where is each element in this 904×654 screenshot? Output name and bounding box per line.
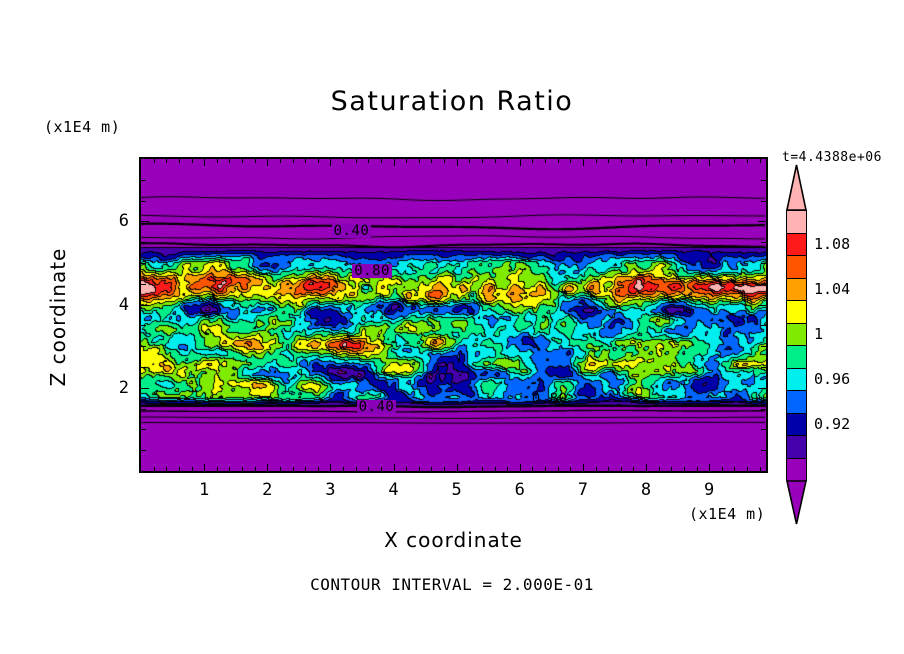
x-tick-minor [684, 467, 685, 471]
x-tick-label: 1 [189, 480, 219, 500]
x-tick-minor [608, 467, 609, 471]
y-tick-minor [761, 284, 766, 285]
x-tick-minor [633, 467, 634, 471]
x-tick-minor [229, 467, 230, 471]
x-tick-label: 7 [568, 480, 598, 500]
x-tick-minor [507, 467, 508, 471]
y-tick-minor [141, 367, 146, 368]
colorbar-tick-label: 0.92 [814, 415, 850, 433]
x-tick-minor [671, 467, 672, 471]
y-tick-label: 6 [103, 211, 129, 231]
contour-label: 0.40 [332, 224, 372, 238]
x-tick-minor [431, 467, 432, 471]
x-tick-minor [722, 159, 723, 163]
x-tick-major [583, 464, 584, 471]
y-tick-major [758, 305, 766, 306]
x-tick-minor [217, 159, 218, 163]
x-tick-minor [734, 467, 735, 471]
x-tick-label: 2 [252, 480, 282, 500]
x-tick-major [646, 159, 647, 166]
time-annotation: t=4.4388e+06 [782, 150, 882, 165]
page-title: Saturation Ratio [0, 86, 904, 117]
x-tick-minor [495, 159, 496, 163]
x-tick-major [709, 464, 710, 471]
colorbar-cell [786, 278, 807, 302]
x-tick-minor [419, 159, 420, 163]
x-tick-minor [318, 159, 319, 163]
x-tick-minor [621, 467, 622, 471]
colorbar-cell [786, 210, 807, 234]
x-tick-major [520, 464, 521, 471]
x-tick-minor [469, 467, 470, 471]
x-tick-major [520, 159, 521, 166]
x-tick-minor [558, 159, 559, 163]
x-tick-minor [621, 159, 622, 163]
x-tick-minor [747, 467, 748, 471]
x-tick-minor [495, 467, 496, 471]
x-tick-minor [596, 467, 597, 471]
x-tick-minor [596, 159, 597, 163]
y-tick-minor [141, 450, 146, 451]
y-tick-minor [141, 409, 146, 410]
y-tick-minor [141, 180, 146, 181]
x-tick-minor [356, 159, 357, 163]
x-tick-minor [381, 467, 382, 471]
x-tick-major [709, 159, 710, 166]
colorbar-cell [786, 255, 807, 279]
x-tick-minor [179, 467, 180, 471]
chart-page: Saturation Ratio (x1E4 m) t=4.4388e+06 0… [0, 0, 904, 654]
colorbar-cell [786, 413, 807, 437]
x-tick-minor [154, 467, 155, 471]
x-tick-minor [570, 159, 571, 163]
y-axis-title: Z coordinate [46, 217, 70, 417]
contour-label: 0.40 [357, 400, 397, 414]
y-tick-minor [761, 201, 766, 202]
x-tick-minor [734, 159, 735, 163]
y-tick-minor [141, 201, 146, 202]
x-tick-minor [229, 159, 230, 163]
x-tick-major [646, 464, 647, 471]
colorbar-cell [786, 390, 807, 414]
colorbar-cell [786, 345, 807, 369]
x-tick-label: 8 [631, 480, 661, 500]
x-axis-title: X coordinate [139, 528, 768, 552]
y-tick-minor [761, 180, 766, 181]
colorbar-cell [786, 300, 807, 324]
x-tick-label: 5 [442, 480, 472, 500]
colorbar-cap-bottom-outline [786, 480, 807, 525]
y-tick-minor [761, 346, 766, 347]
colorbar-cell [786, 458, 807, 482]
colorbar-cell [786, 233, 807, 257]
y-tick-minor [141, 325, 146, 326]
contour-interval-caption: CONTOUR INTERVAL = 2.000E-01 [0, 575, 904, 594]
x-tick-minor [217, 467, 218, 471]
x-tick-minor [154, 159, 155, 163]
y-tick-minor [761, 450, 766, 451]
x-tick-label: 4 [379, 480, 409, 500]
x-tick-minor [305, 159, 306, 163]
x-tick-minor [760, 159, 761, 163]
x-tick-minor [166, 467, 167, 471]
y-tick-minor [141, 429, 146, 430]
x-tick-minor [760, 467, 761, 471]
x-tick-minor [406, 159, 407, 163]
y-tick-minor [141, 284, 146, 285]
colorbar: 1.081.0410.960.92 [786, 210, 807, 480]
x-tick-major [457, 159, 458, 166]
x-tick-major [330, 464, 331, 471]
x-tick-minor [532, 159, 533, 163]
y-tick-minor [761, 429, 766, 430]
x-tick-major [204, 464, 205, 471]
colorbar-cell [786, 368, 807, 392]
x-tick-label: 6 [505, 480, 535, 500]
x-tick-minor [545, 159, 546, 163]
x-tick-minor [444, 467, 445, 471]
y-tick-minor [761, 263, 766, 264]
x-tick-minor [747, 159, 748, 163]
x-tick-minor [356, 467, 357, 471]
x-tick-minor [242, 159, 243, 163]
y-tick-minor [761, 409, 766, 410]
x-tick-major [394, 159, 395, 166]
x-tick-minor [558, 467, 559, 471]
x-tick-minor [532, 467, 533, 471]
x-tick-minor [659, 467, 660, 471]
x-tick-major [204, 159, 205, 166]
colorbar-cap-top-outline [786, 164, 807, 210]
x-tick-minor [381, 159, 382, 163]
x-tick-minor [293, 467, 294, 471]
x-tick-minor [343, 467, 344, 471]
x-tick-minor [192, 467, 193, 471]
y-tick-label: 4 [103, 295, 129, 315]
x-tick-minor [179, 159, 180, 163]
y-tick-minor [761, 242, 766, 243]
x-tick-major [583, 159, 584, 166]
plot-area: 0.400.800.400.80 [139, 157, 768, 473]
y-tick-major [758, 388, 766, 389]
y-tick-label: 2 [103, 378, 129, 398]
x-tick-minor [368, 159, 369, 163]
x-tick-major [267, 464, 268, 471]
x-tick-minor [255, 159, 256, 163]
y-tick-minor [761, 325, 766, 326]
x-tick-minor [469, 159, 470, 163]
x-tick-minor [482, 467, 483, 471]
colorbar-cell [786, 435, 807, 459]
x-tick-minor [368, 467, 369, 471]
x-tick-minor [343, 159, 344, 163]
x-tick-label: 3 [315, 480, 345, 500]
y-tick-major [141, 221, 149, 222]
x-tick-minor [419, 467, 420, 471]
x-tick-minor [697, 159, 698, 163]
x-tick-minor [608, 159, 609, 163]
x-axis-unit-label: (x1E4 m) [689, 505, 765, 523]
x-tick-minor [192, 159, 193, 163]
x-tick-minor [545, 467, 546, 471]
y-tick-major [141, 305, 149, 306]
colorbar-tick-label: 0.96 [814, 370, 850, 388]
x-tick-minor [444, 159, 445, 163]
x-tick-minor [280, 467, 281, 471]
x-tick-minor [406, 467, 407, 471]
x-tick-minor [305, 467, 306, 471]
x-tick-minor [684, 159, 685, 163]
x-tick-major [394, 464, 395, 471]
y-tick-minor [141, 346, 146, 347]
x-tick-minor [697, 467, 698, 471]
x-tick-minor [318, 467, 319, 471]
x-tick-minor [722, 467, 723, 471]
contour-field [141, 159, 766, 471]
x-tick-minor [431, 159, 432, 163]
x-tick-minor [482, 159, 483, 163]
x-tick-minor [293, 159, 294, 163]
x-tick-label: 9 [694, 480, 724, 500]
x-tick-major [457, 464, 458, 471]
colorbar-tick-label: 1 [814, 325, 823, 343]
x-tick-minor [671, 159, 672, 163]
contour-label: 0.80 [352, 264, 392, 278]
contour-label: 0.80 [530, 392, 570, 406]
x-tick-major [330, 159, 331, 166]
y-axis-unit-label: (x1E4 m) [44, 118, 120, 136]
x-tick-minor [255, 467, 256, 471]
y-tick-major [141, 388, 149, 389]
y-tick-minor [141, 242, 146, 243]
colorbar-tick-label: 1.04 [814, 280, 850, 298]
x-tick-minor [633, 159, 634, 163]
y-tick-minor [141, 263, 146, 264]
colorbar-tick-label: 1.08 [814, 235, 850, 253]
x-tick-minor [507, 159, 508, 163]
x-tick-minor [280, 159, 281, 163]
x-tick-minor [242, 467, 243, 471]
x-tick-minor [166, 159, 167, 163]
colorbar-cell [786, 323, 807, 347]
y-tick-minor [761, 367, 766, 368]
x-tick-major [267, 159, 268, 166]
x-tick-minor [659, 159, 660, 163]
y-tick-major [758, 221, 766, 222]
x-tick-minor [570, 467, 571, 471]
